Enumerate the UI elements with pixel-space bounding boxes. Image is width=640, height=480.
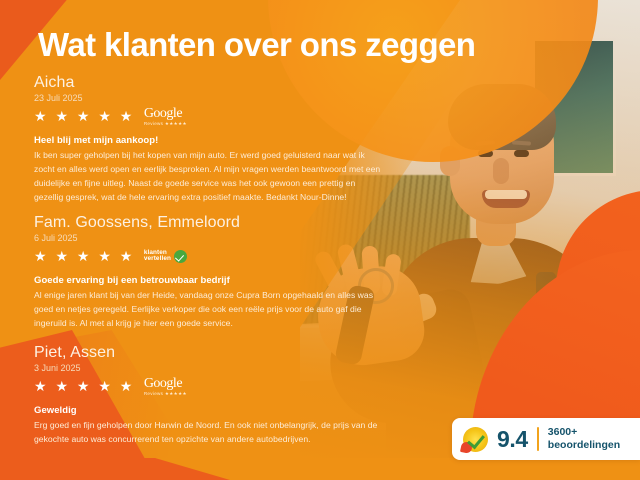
- review-body: Al enige jaren klant bij van der Heide, …: [34, 289, 382, 331]
- review-item: Piet, Assen 3 Juni 2025 ★ ★ ★ ★ ★ Google…: [34, 344, 382, 447]
- star-rating-icon: ★ ★ ★ ★ ★: [34, 249, 135, 263]
- reviewer-name: Fam. Goossens, Emmeloord: [34, 214, 382, 232]
- review-body: Erg goed en fijn geholpen door Harwin de…: [34, 419, 382, 447]
- page-title: Wat klanten over ons zeggen: [38, 26, 475, 64]
- badge-divider: [537, 427, 539, 451]
- google-wordmark: Google: [144, 107, 182, 121]
- klantenvertellen-wordmark: klanten vertellen: [144, 250, 171, 263]
- banner-content: Wat klanten over ons zeggen Aicha 23 Jul…: [0, 0, 640, 480]
- review-date: 6 Juli 2025: [34, 234, 382, 244]
- klantenvertellen-word-2: vertellen: [144, 256, 171, 263]
- reviewer-name: Piet, Assen: [34, 344, 382, 362]
- review-headline: Heel blij met mijn aankoop!: [34, 135, 382, 146]
- klantenvertellen-logo-icon: klanten vertellen: [144, 250, 187, 263]
- rating-count: 3600+: [548, 426, 620, 439]
- review-body: Ik ben super geholpen bij het kopen van …: [34, 149, 382, 205]
- review-item: Aicha 23 Juli 2025 ★ ★ ★ ★ ★ Google Revi…: [34, 74, 382, 205]
- rating-score: 9.4: [497, 426, 528, 453]
- review-headline: Goede ervaring bij een betrouwbaar bedri…: [34, 275, 382, 286]
- reviewer-name: Aicha: [34, 74, 382, 92]
- review-item: Fam. Goossens, Emmeloord 6 Juli 2025 ★ ★…: [34, 214, 382, 331]
- review-meta: ★ ★ ★ ★ ★ Google Reviews ★★★★★: [34, 376, 382, 396]
- green-check-badge-icon: [174, 250, 187, 263]
- review-date: 23 Juli 2025: [34, 94, 382, 104]
- rating-label: beoordelingen: [548, 439, 620, 452]
- google-reviews-sub: Reviews ★★★★★: [144, 122, 187, 127]
- google-wordmark: Google: [144, 377, 182, 391]
- google-logo-icon: Google Reviews ★★★★★: [144, 107, 187, 127]
- rating-badge[interactable]: 9.4 3600+ beoordelingen: [452, 418, 640, 460]
- star-rating-icon: ★ ★ ★ ★ ★: [34, 109, 135, 123]
- klantenvertellen-seal-icon: [463, 427, 488, 452]
- rating-text: 3600+ beoordelingen: [548, 426, 620, 451]
- review-date: 3 Juni 2025: [34, 364, 382, 374]
- review-headline: Geweldig: [34, 405, 382, 416]
- google-logo-icon: Google Reviews ★★★★★: [144, 377, 187, 397]
- testimonial-banner: VDH Wat klanten over ons zeggen Aicha 23…: [0, 0, 640, 480]
- review-meta: ★ ★ ★ ★ ★ Google Reviews ★★★★★: [34, 106, 382, 126]
- google-reviews-sub: Reviews ★★★★★: [144, 392, 187, 397]
- review-meta: ★ ★ ★ ★ ★ klanten vertellen: [34, 246, 382, 266]
- star-rating-icon: ★ ★ ★ ★ ★: [34, 379, 135, 393]
